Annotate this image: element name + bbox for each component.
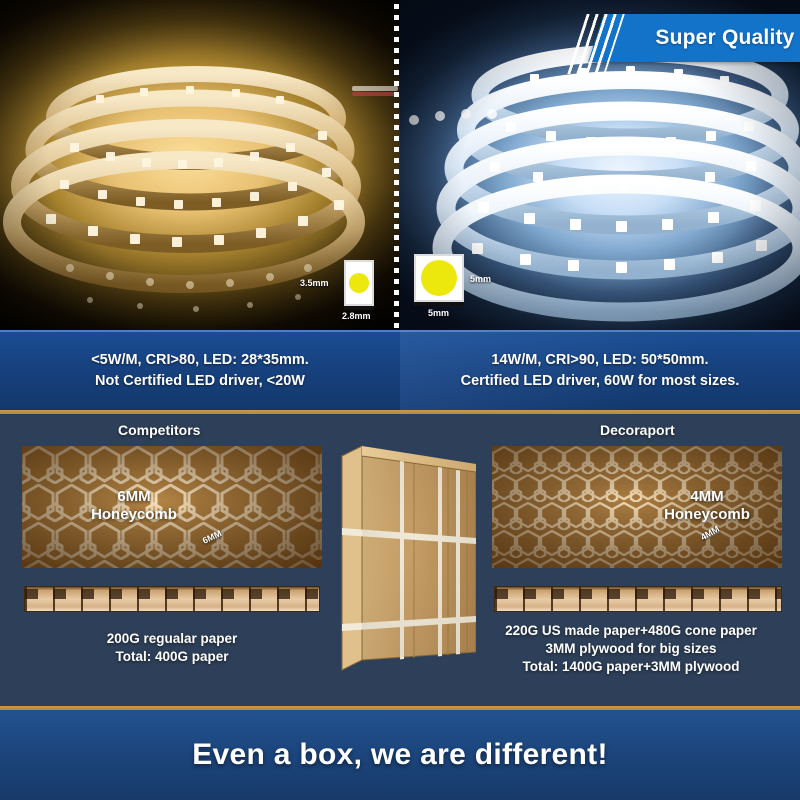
led-chip-body-decoraport — [414, 254, 464, 302]
led-chip-body-competitor — [344, 260, 374, 306]
led-chip-width-label: 2.8mm — [342, 311, 371, 321]
led-emitter-dot — [349, 273, 369, 293]
spec-comparison-bar: <5W/M, CRI>80, LED: 28*35mm. Not Certifi… — [0, 330, 800, 410]
divider-gold-bottom — [0, 706, 800, 710]
led-chip-base-large — [414, 302, 464, 306]
spec-decoraport-line1: 14W/M, CRI>90, LED: 50*50mm. — [491, 352, 708, 368]
led-chip-base — [344, 306, 374, 310]
led-chip-callout-competitor: 3.5mm 2.8mm — [300, 258, 396, 320]
footer-headline: Even a box, we are different! — [192, 738, 608, 772]
super-quality-label: Super Quality — [596, 14, 800, 62]
honeycomb-label-decoraport: 4MM Honeycomb — [642, 488, 772, 523]
honeycomb-cross-section-competitors — [24, 586, 320, 612]
led-emitter-dot-large — [421, 260, 457, 296]
footer-banner: Even a box, we are different! — [0, 710, 800, 800]
spec-decoraport-line2: Certified LED driver, 60W for most sizes… — [461, 373, 740, 389]
column-title-decoraport: Decoraport — [600, 422, 675, 438]
led-chip-height-label: 3.5mm — [300, 278, 329, 288]
cross-section-cells-top-competitors — [25, 589, 319, 599]
honeycomb-cross-section-decoraport — [494, 586, 782, 612]
spec-decoraport: 14W/M, CRI>90, LED: 50*50mm. Certified L… — [400, 330, 800, 410]
led-chip-height-label-large: 5mm — [470, 274, 491, 284]
led-chip-width-label-large: 5mm — [428, 308, 449, 318]
cross-section-cells-top-decoraport — [495, 589, 781, 599]
photo-warm-led-strip: 3.5mm 2.8mm — [0, 0, 400, 330]
spec-competitor-line1: <5W/M, CRI>80, LED: 28*35mm. — [91, 352, 309, 368]
spec-competitor-line2: Not Certified LED driver, <20W — [95, 373, 305, 389]
honeycomb-panel-competitors: 6MM Honeycomb 6MM — [22, 446, 322, 568]
caption-competitors: 200G regualar paper Total: 400G paper — [22, 630, 322, 666]
infographic-page: 3.5mm 2.8mm — [0, 0, 800, 800]
caption-decoraport: 220G US made paper+480G cone paper 3MM p… — [466, 622, 796, 677]
cardboard-carton-box — [336, 438, 476, 678]
divider-gold-top — [0, 410, 800, 414]
packaging-comparison-section: Competitors Decoraport — [0, 414, 800, 706]
led-chip-callout-decoraport: 5mm 5mm — [412, 252, 532, 324]
honeycomb-label-competitors: 6MM Honeycomb — [64, 488, 204, 523]
product-photo-row: 3.5mm 2.8mm — [0, 0, 800, 330]
spec-competitor: <5W/M, CRI>80, LED: 28*35mm. Not Certifi… — [0, 330, 400, 410]
column-title-competitors: Competitors — [118, 422, 200, 438]
honeycomb-panel-decoraport: 4MM Honeycomb 4MM — [492, 446, 782, 568]
